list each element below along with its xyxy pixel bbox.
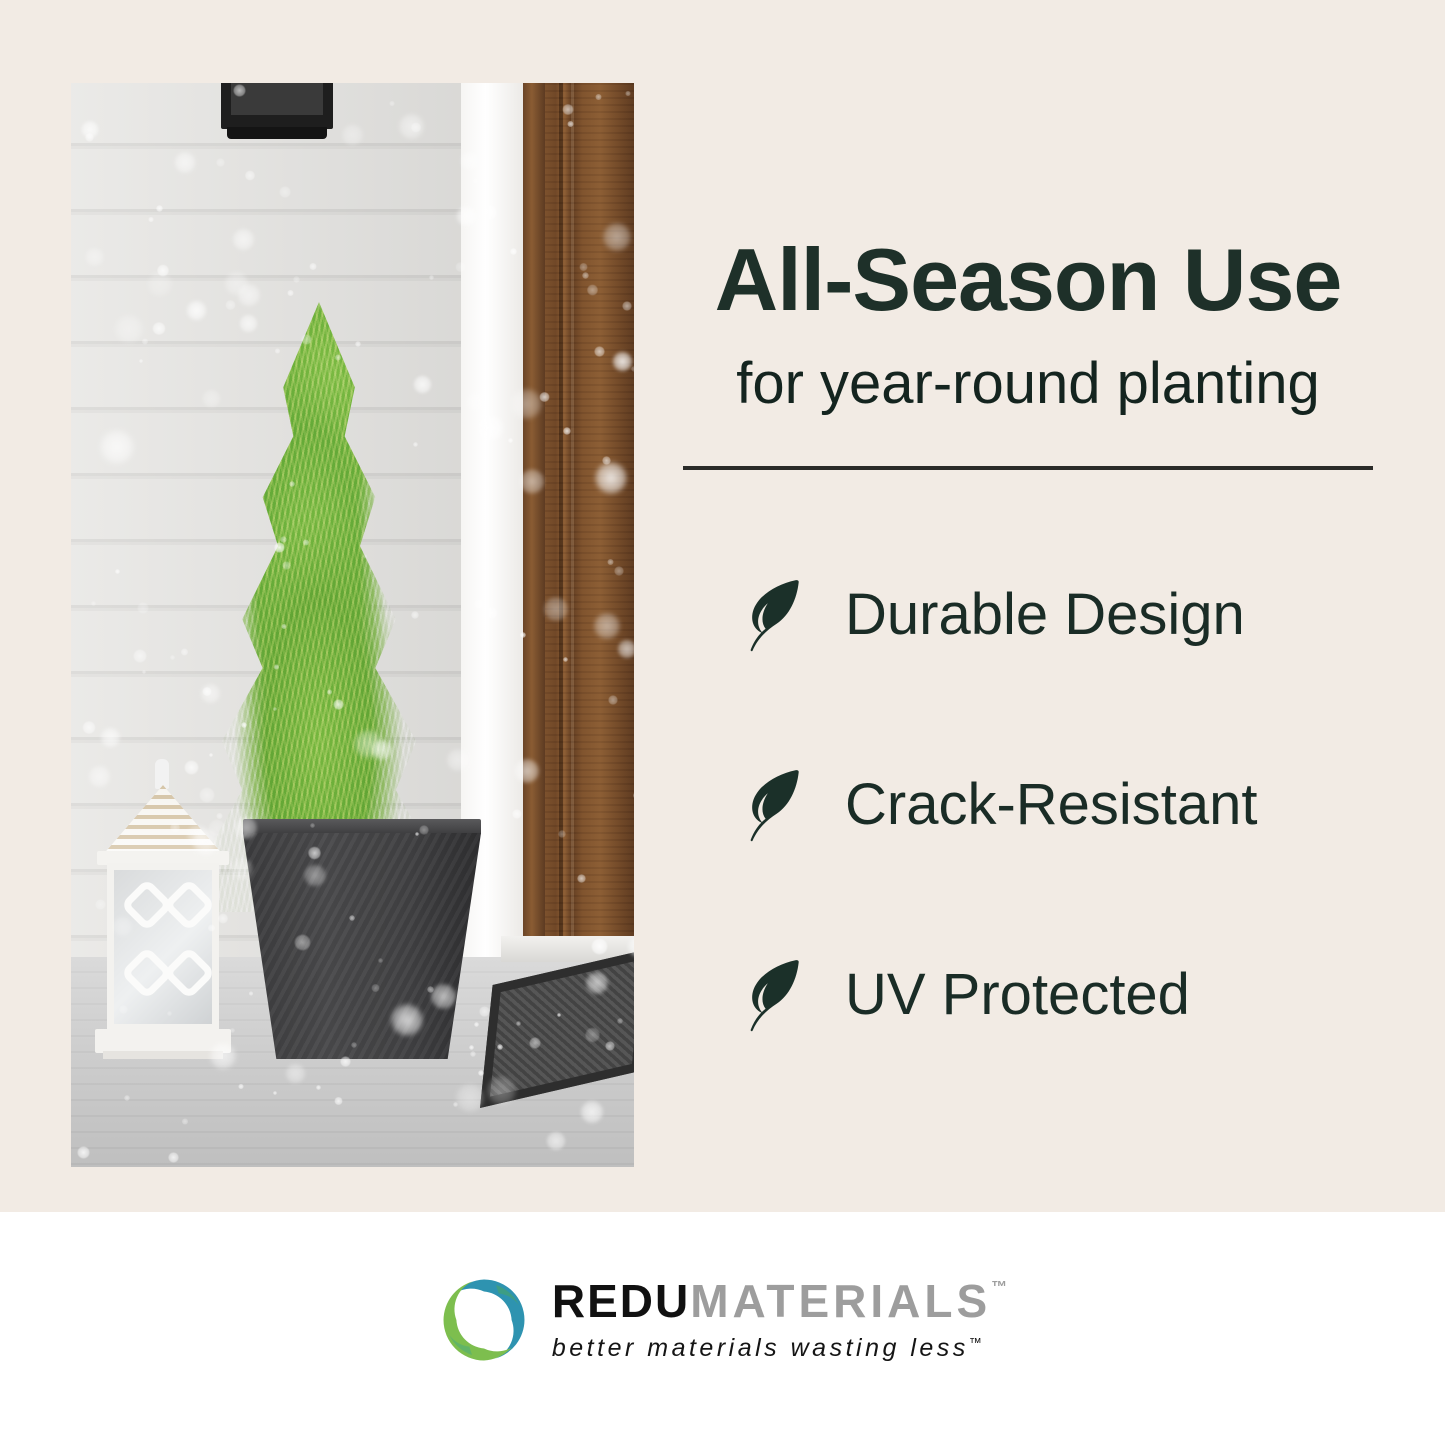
page-title: All-Season Use — [683, 236, 1373, 324]
footer: REDU MATERIALS ™ better materials wastin… — [0, 1212, 1445, 1445]
list-item: Crack-Resistant — [683, 710, 1373, 900]
brand-secondary: MATERIALS — [690, 1278, 991, 1324]
hero-section: All-Season Use for year-round planting D… — [0, 0, 1445, 1212]
tagline-text: better materials wasting less — [552, 1334, 969, 1363]
list-item: Durable Design — [683, 520, 1373, 710]
lantern-roof — [101, 785, 225, 857]
feature-list: Durable Design Crack-Resistant UV Protec… — [683, 520, 1373, 1090]
lantern-foot — [103, 1051, 223, 1059]
infographic-canvas: All-Season Use for year-round planting D… — [0, 0, 1445, 1445]
decorative-lantern — [93, 759, 233, 1059]
list-item-label: UV Protected — [845, 966, 1190, 1024]
leaf-icon — [745, 768, 801, 842]
list-item-label: Crack-Resistant — [845, 776, 1258, 834]
brand-logo: REDU MATERIALS ™ better materials wastin… — [0, 1274, 1445, 1366]
text-column: All-Season Use for year-round planting D… — [683, 0, 1373, 1212]
planter-body — [243, 833, 481, 1059]
product-photo — [71, 83, 634, 1167]
leaf-icon — [745, 578, 801, 652]
trademark-symbol: ™ — [991, 1280, 1007, 1296]
list-item-label: Durable Design — [845, 586, 1245, 644]
leaf-icon — [745, 958, 801, 1032]
list-item: UV Protected — [683, 900, 1373, 1090]
brand-primary: REDU — [552, 1278, 690, 1324]
lantern-base — [95, 1029, 231, 1053]
page-subtitle: for year-round planting — [683, 352, 1373, 416]
logo-text-block: REDU MATERIALS ™ better materials wastin… — [552, 1278, 1007, 1363]
brand-tagline: better materials wasting less ™ — [552, 1334, 1007, 1363]
planter-pot — [243, 819, 481, 1059]
divider — [683, 466, 1373, 470]
planter-rim — [243, 819, 481, 835]
redu-circles-logo-mark — [438, 1274, 530, 1366]
lantern-finial — [155, 759, 169, 789]
tagline-trademark: ™ — [969, 1335, 982, 1350]
wall-sconce — [221, 83, 333, 129]
lantern-body — [107, 863, 219, 1031]
wordmark: REDU MATERIALS ™ — [552, 1278, 1007, 1324]
